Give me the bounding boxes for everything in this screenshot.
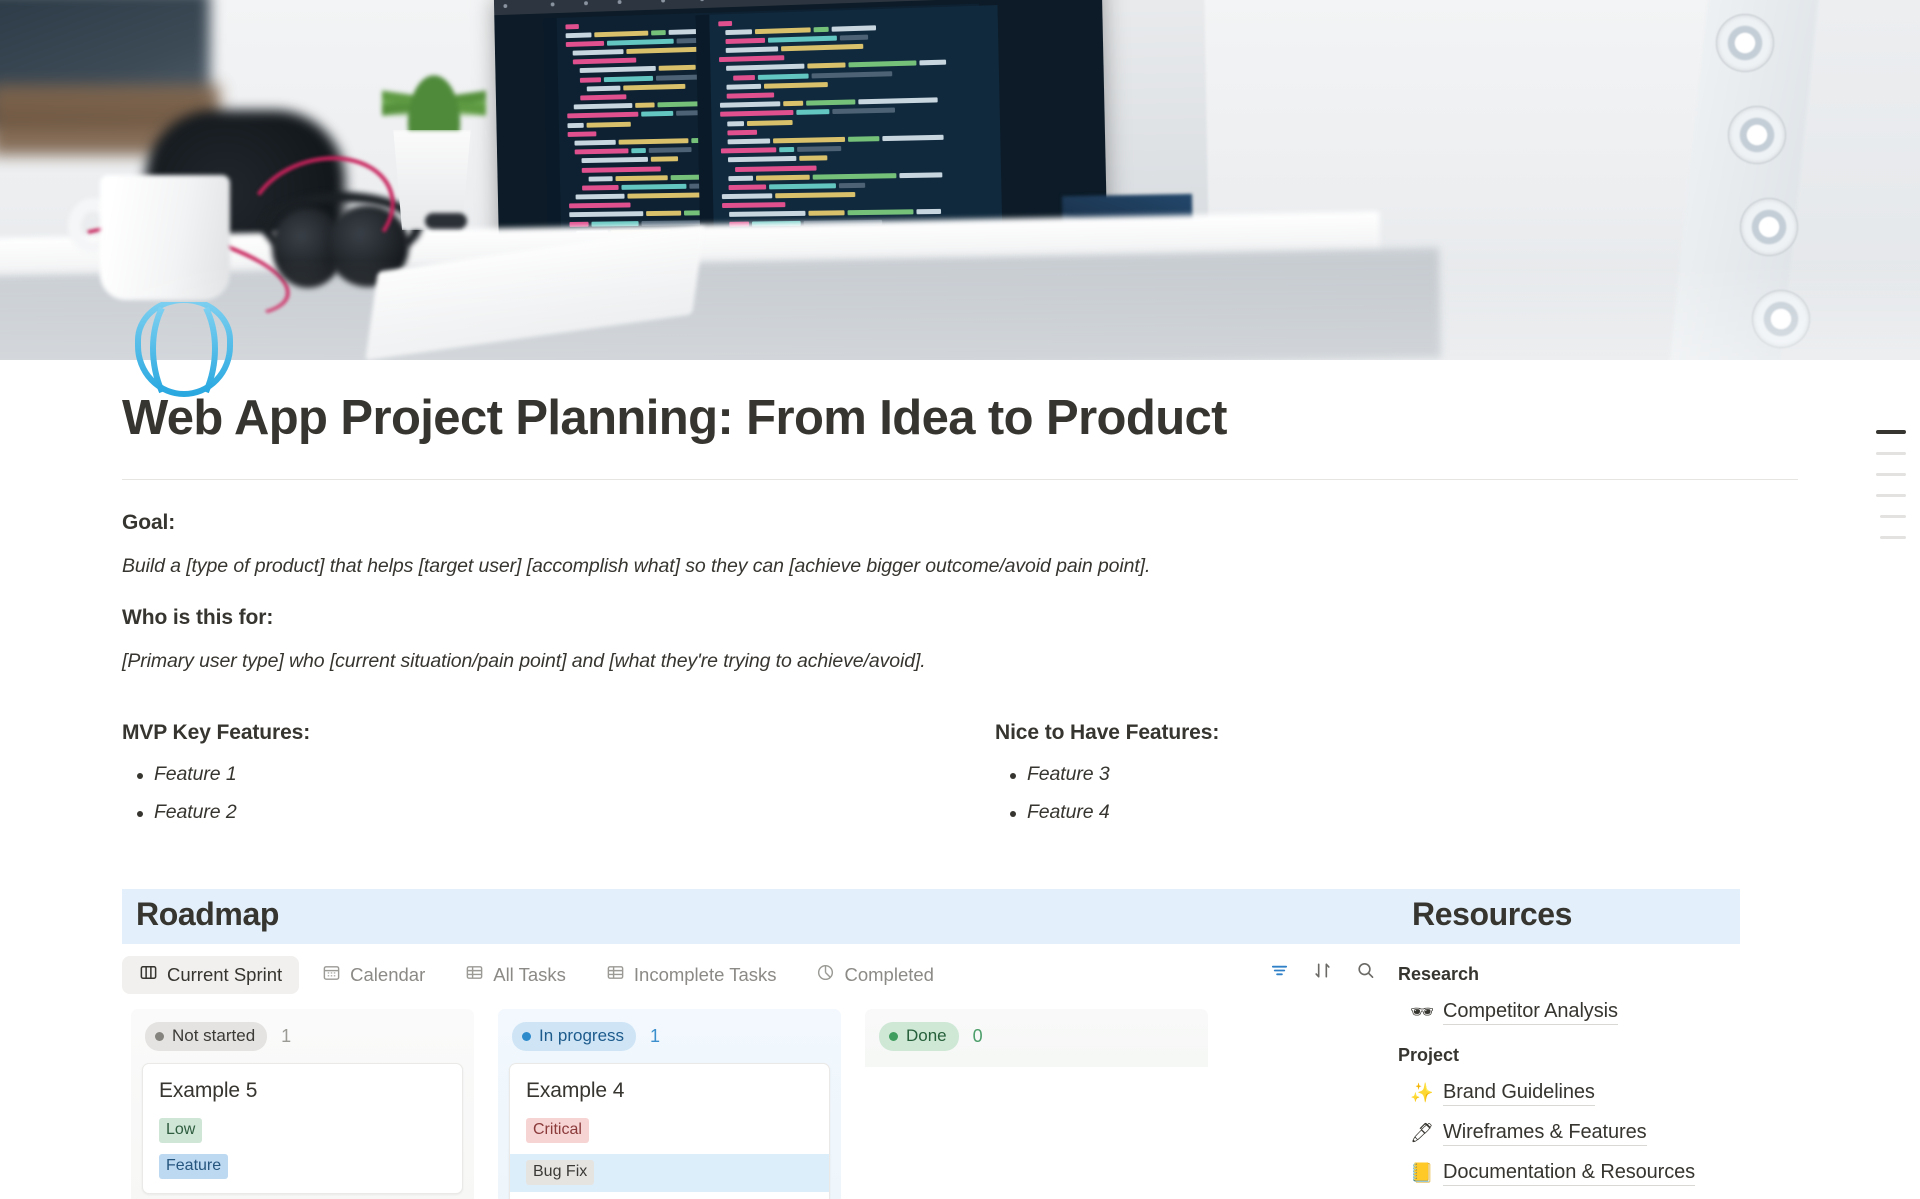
priority-tag[interactable]: Low (159, 1118, 202, 1143)
globe-icon[interactable] (122, 302, 246, 402)
list-item[interactable]: Feature 1 (122, 763, 995, 786)
resources-group-research[interactable]: Research (1398, 964, 1798, 985)
kanban-board: Not started 1 Example 5 Low Feature (122, 1009, 1398, 1199)
table-icon (465, 963, 484, 987)
filter-icon[interactable] (1269, 960, 1290, 981)
tab-completed[interactable]: Completed (799, 956, 950, 994)
list-item[interactable]: 📒 Documentation & Resources (1398, 1161, 1798, 1186)
roadmap-toolbar (1269, 960, 1376, 981)
list-item[interactable]: 🕶 Competitor Analysis (1398, 1000, 1798, 1025)
table-of-contents-minimap[interactable] (1876, 430, 1906, 539)
search-icon[interactable] (1355, 960, 1376, 981)
tab-label: Current Sprint (167, 964, 282, 986)
column-count: 1 (650, 1026, 660, 1047)
lower-area: Roadmap Current Sprint (122, 889, 1798, 1199)
toc-item-active[interactable] (1876, 430, 1906, 434)
column-count: 1 (281, 1026, 291, 1047)
audience-heading[interactable]: Who is this for: (122, 606, 1798, 630)
resource-link[interactable]: Brand Guidelines (1443, 1081, 1595, 1106)
status-badge[interactable]: In progress (512, 1022, 636, 1051)
resource-link[interactable]: Documentation & Resources (1443, 1161, 1695, 1186)
resource-link[interactable]: Competitor Analysis (1443, 1000, 1618, 1025)
cover-image (0, 0, 1920, 360)
page-content: Web App Project Planning: From Idea to P… (0, 390, 1920, 1199)
roadmap-heading[interactable]: Roadmap (122, 889, 1398, 944)
column-count: 0 (973, 1026, 983, 1047)
column-header: Done 0 (865, 1009, 1208, 1063)
table-icon (606, 963, 625, 987)
list-item[interactable]: Feature 2 (122, 801, 995, 824)
tab-label: Calendar (350, 964, 425, 986)
list-item[interactable]: ✨ Brand Guidelines (1398, 1081, 1798, 1106)
nice-to-have-list: Feature 3 Feature 4 (995, 763, 1219, 824)
status-dot-icon (155, 1032, 164, 1041)
calendar-icon (322, 963, 341, 987)
board-icon (139, 963, 158, 987)
status-badge[interactable]: Done (879, 1022, 959, 1051)
features-columns: MVP Key Features: Feature 1 Feature 2 Ni… (122, 721, 1798, 839)
tab-current-sprint[interactable]: Current Sprint (122, 956, 299, 994)
roadmap-view-tabs: Current Sprint Calendar (122, 956, 1398, 994)
nice-to-have-heading[interactable]: Nice to Have Features: (995, 721, 1219, 745)
tab-label: Incomplete Tasks (634, 964, 777, 986)
list-item[interactable]: Feature 4 (995, 801, 1219, 824)
resources-heading[interactable]: Resources (1398, 889, 1740, 944)
kanban-column-done[interactable]: Done 0 (865, 1009, 1208, 1067)
cover-photo (0, 0, 1920, 360)
column-header: In progress 1 (498, 1009, 841, 1063)
nice-to-have-column: Nice to Have Features: Feature 3 Feature… (995, 721, 1219, 839)
tab-label: All Tasks (493, 964, 566, 986)
pie-chart-icon (816, 963, 835, 987)
card-title[interactable]: Example 5 (159, 1079, 446, 1103)
priority-tag[interactable]: Critical (526, 1118, 589, 1143)
list-item[interactable]: 🖊 Wireframes & Features (1398, 1121, 1798, 1146)
toc-item[interactable] (1876, 473, 1906, 476)
toc-item[interactable] (1876, 452, 1906, 455)
page-title[interactable]: Web App Project Planning: From Idea to P… (122, 390, 1798, 446)
sunglasses-icon: 🕶 (1410, 1003, 1432, 1022)
roadmap-section: Roadmap Current Sprint (122, 889, 1398, 1199)
tab-incomplete-tasks[interactable]: Incomplete Tasks (589, 956, 794, 994)
card-title[interactable]: Example 4 (526, 1079, 813, 1103)
tab-all-tasks[interactable]: All Tasks (448, 956, 583, 994)
audience-text[interactable]: [Primary user type] who [current situati… (122, 650, 1798, 673)
sparkles-icon: ✨ (1410, 1084, 1432, 1103)
pen-icon: 🖊 (1410, 1124, 1432, 1143)
notebook-icon: 📒 (1410, 1164, 1432, 1183)
kanban-column-in-progress[interactable]: In progress 1 Example 4 Critical Bug Fix (498, 1009, 841, 1199)
status-label: Done (906, 1026, 947, 1046)
status-label: Not started (172, 1026, 255, 1046)
status-label: In progress (539, 1026, 624, 1046)
mvp-features-column: MVP Key Features: Feature 1 Feature 2 (122, 721, 995, 839)
column-header: Not started 1 (131, 1009, 474, 1063)
kanban-column-not-started[interactable]: Not started 1 Example 5 Low Feature (131, 1009, 474, 1199)
toc-item[interactable] (1876, 494, 1906, 497)
type-tag[interactable]: Feature (159, 1154, 228, 1179)
mvp-feature-list: Feature 1 Feature 2 (122, 763, 995, 824)
resources-group-project[interactable]: Project (1398, 1045, 1798, 1066)
toc-item[interactable] (1880, 536, 1906, 539)
resource-link[interactable]: Wireframes & Features (1443, 1121, 1647, 1146)
kanban-card[interactable]: Example 4 Critical Bug Fix (509, 1063, 830, 1199)
goal-text[interactable]: Build a [type of product] that helps [ta… (122, 555, 1798, 578)
type-tag[interactable]: Bug Fix (526, 1160, 594, 1185)
goal-heading[interactable]: Goal: (122, 511, 1798, 535)
list-item[interactable]: Feature 3 (995, 763, 1219, 786)
status-dot-icon (522, 1032, 531, 1041)
tab-label: Completed (844, 964, 933, 986)
status-badge[interactable]: Not started (145, 1022, 267, 1051)
tab-calendar[interactable]: Calendar (305, 956, 442, 994)
toc-item[interactable] (1880, 515, 1906, 518)
mvp-heading[interactable]: MVP Key Features: (122, 721, 995, 745)
sort-icon[interactable] (1312, 960, 1333, 981)
status-dot-icon (889, 1032, 898, 1041)
resources-section: Resources Research 🕶 Competitor Analysis… (1398, 889, 1798, 1199)
kanban-card[interactable]: Example 5 Low Feature (142, 1063, 463, 1194)
